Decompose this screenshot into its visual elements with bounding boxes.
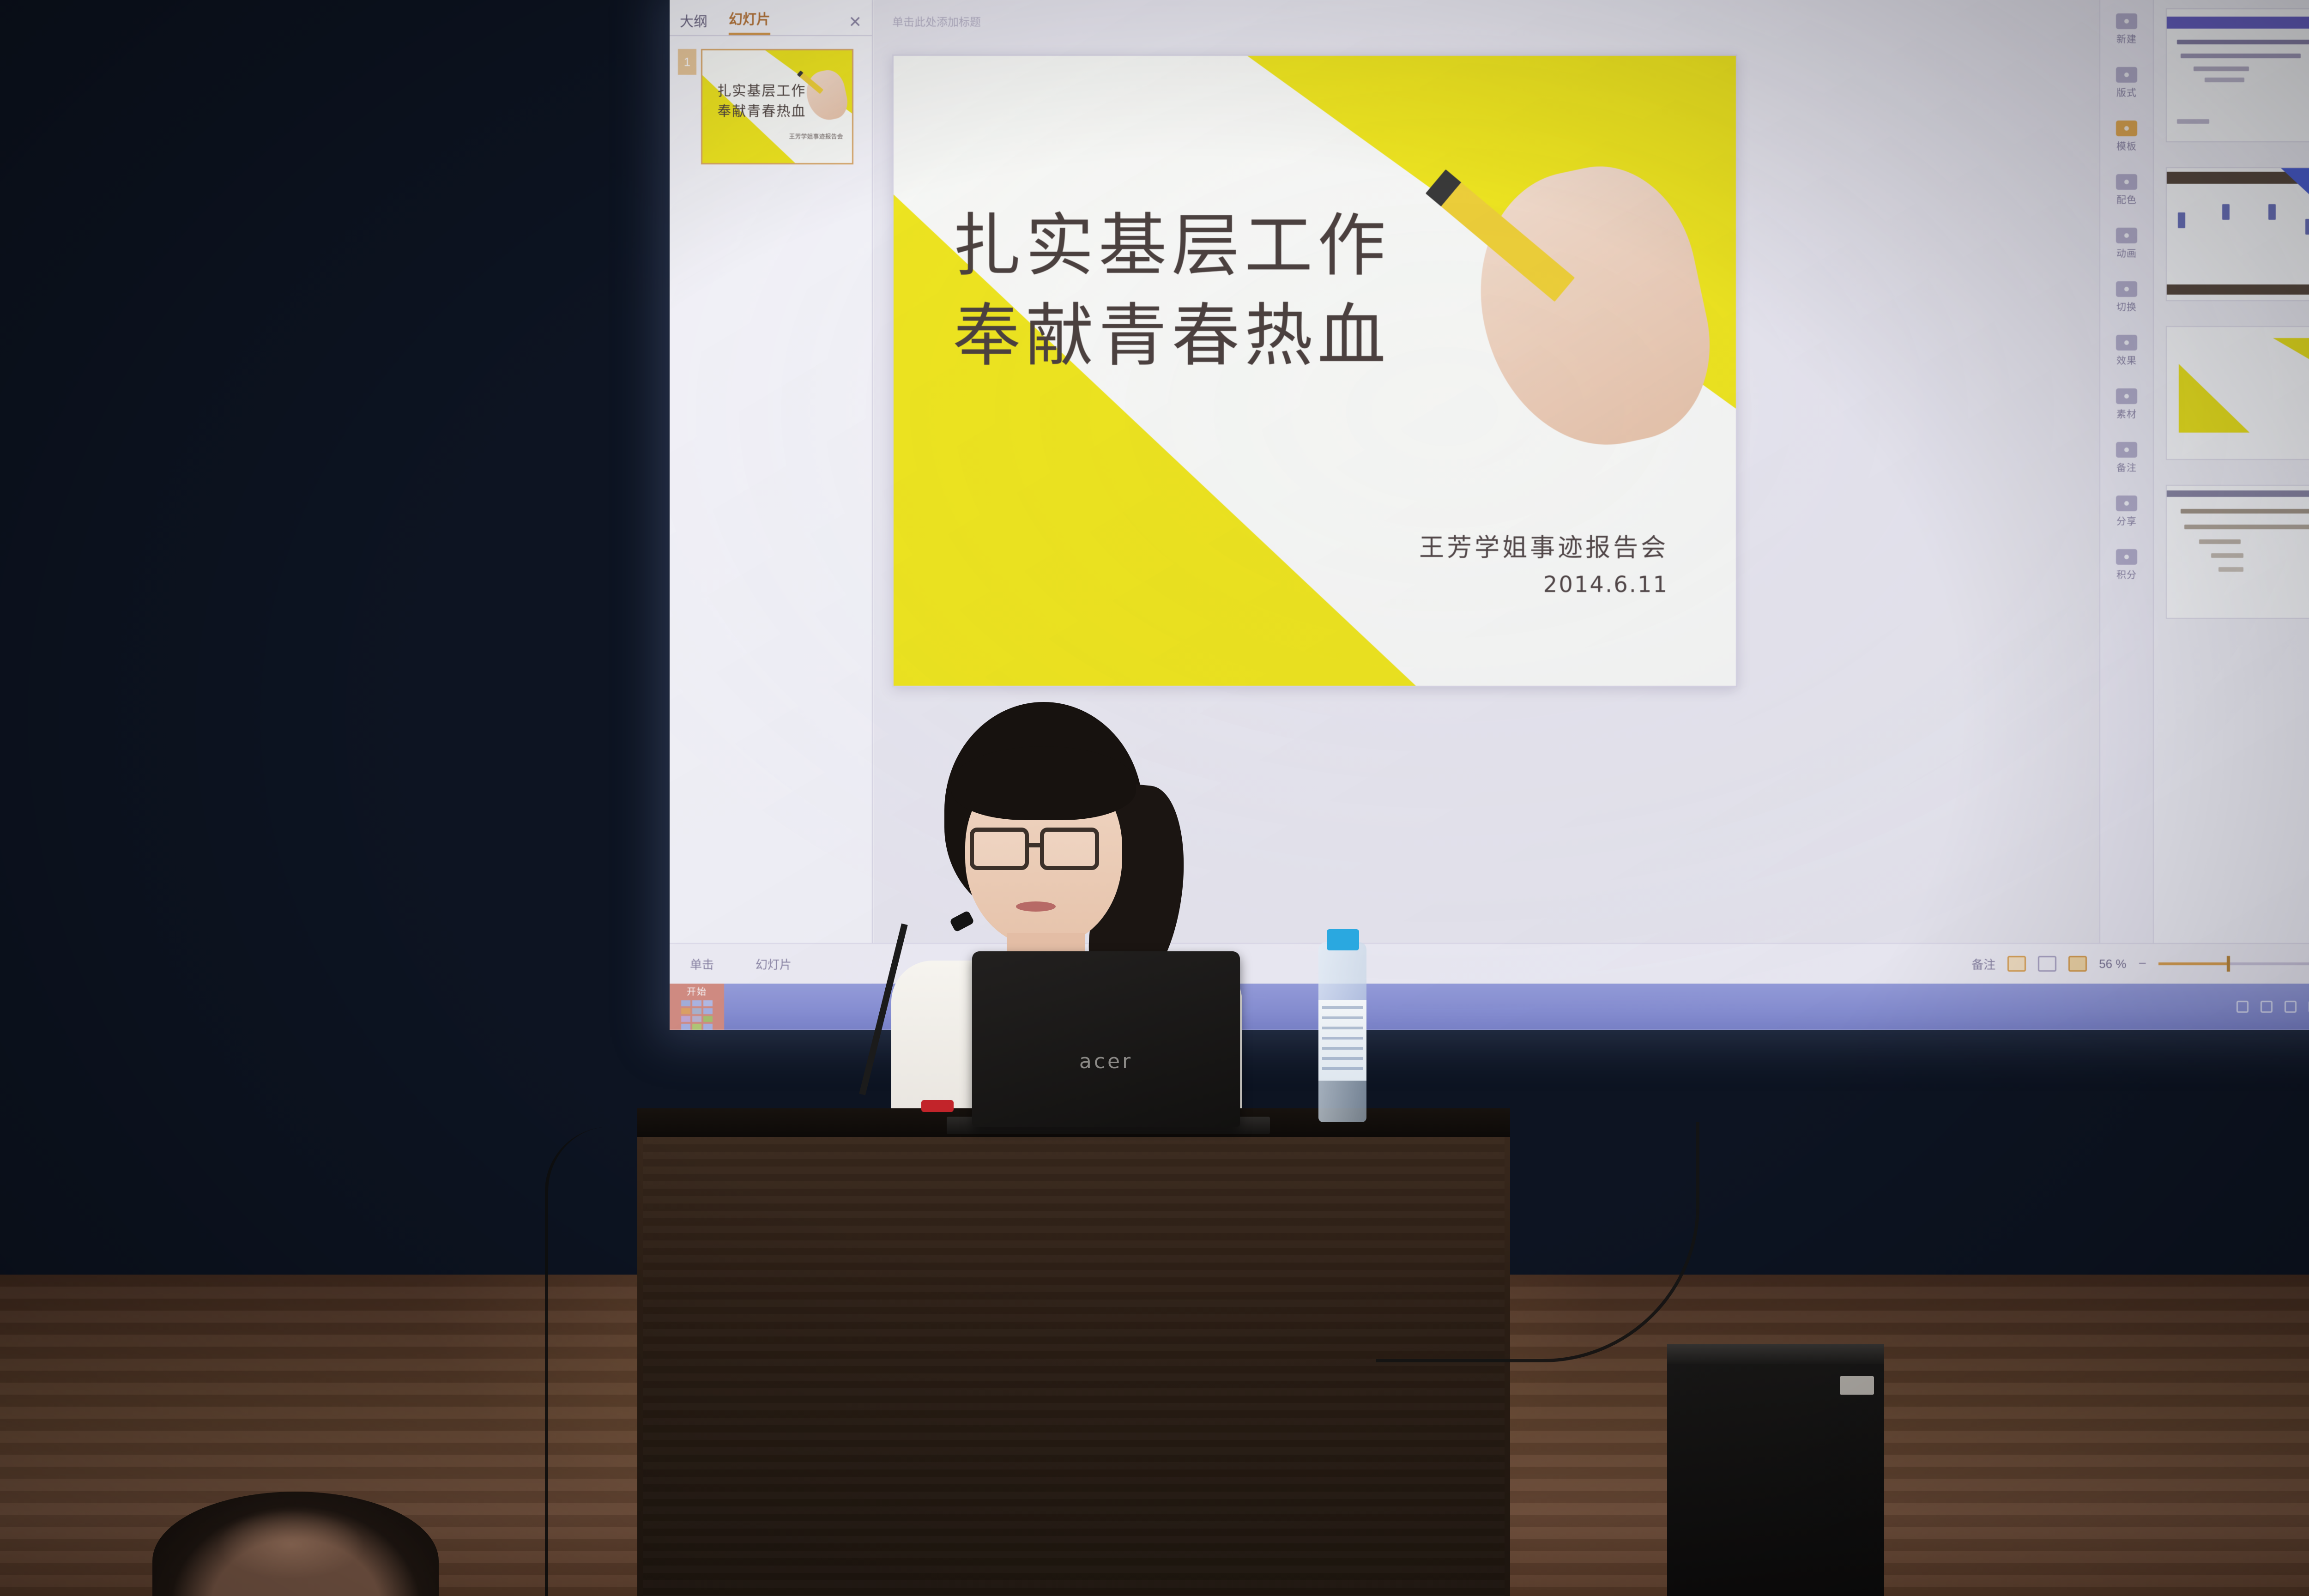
template-line xyxy=(2181,509,2309,514)
view-normal-icon[interactable] xyxy=(2007,956,2026,972)
mouth xyxy=(1016,901,1056,912)
rail-label: 分享 xyxy=(2116,514,2137,528)
zoom-slider[interactable] xyxy=(2158,962,2309,965)
mini-byline: 王芳学姐事迹报告会 xyxy=(789,132,843,140)
template-node xyxy=(2268,204,2276,220)
rail-item-animation[interactable]: 动画 xyxy=(2100,217,2153,271)
rail-item-new[interactable]: 新建 xyxy=(2100,3,2153,56)
mini-title-line2: 奉献青春热血 xyxy=(717,100,806,120)
view-slideshow-icon[interactable] xyxy=(2068,956,2087,972)
tab-outline[interactable]: 大纲 xyxy=(680,10,707,35)
effects-icon xyxy=(2116,335,2137,351)
start-button[interactable]: 开始 xyxy=(670,984,724,1030)
zoom-percent: 56 % xyxy=(2099,957,2126,971)
notes-toggle[interactable]: 备注 xyxy=(1971,955,1995,973)
template-line xyxy=(2177,119,2209,124)
bottle-cap xyxy=(1327,929,1359,950)
start-tiles-icon xyxy=(681,1000,713,1030)
status-right-group: 备注 56 % − xyxy=(1971,955,2309,973)
rail-label: 备注 xyxy=(2116,460,2137,474)
template-line xyxy=(2181,54,2301,58)
slide-byline-block[interactable]: 王芳学姐事迹报告会 2014.6.11 xyxy=(1419,527,1668,598)
red-device xyxy=(921,1100,954,1112)
template-gallery-pane[interactable]: 更多模板 xyxy=(2154,0,2309,984)
canvas-toolbar: 单击此处添加标题 xyxy=(874,0,2154,42)
template-line xyxy=(2199,539,2241,544)
close-icon[interactable]: ✕ xyxy=(849,13,862,35)
share-icon xyxy=(2116,496,2137,511)
eyeglasses-bridge xyxy=(1029,843,1042,847)
bangs xyxy=(951,746,1136,820)
slide-number: 1 xyxy=(678,49,696,75)
rail-label: 切换 xyxy=(2116,300,2137,314)
template-icon xyxy=(2116,121,2137,136)
network-icon[interactable] xyxy=(2236,1001,2249,1013)
slide-date: 2014.6.11 xyxy=(1419,572,1668,598)
layout-icon xyxy=(2116,67,2137,83)
template-line xyxy=(2205,78,2244,82)
yellow-triangle-bottomleft xyxy=(2179,364,2249,433)
view-sorter-icon[interactable] xyxy=(2038,956,2056,972)
rail-item-effects[interactable]: 效果 xyxy=(2100,324,2153,378)
template-card[interactable] xyxy=(2166,485,2309,619)
rail-label: 版式 xyxy=(2116,85,2137,99)
rail-item-template[interactable]: 模板 xyxy=(2100,110,2153,163)
rail-label: 配色 xyxy=(2116,193,2137,206)
battery-icon[interactable] xyxy=(2285,1001,2297,1013)
template-card[interactable] xyxy=(2166,167,2309,301)
yellow-triangle-topright xyxy=(2273,338,2309,391)
bottle-label xyxy=(1318,1000,1366,1081)
zoom-slider-handle[interactable] xyxy=(2227,956,2230,972)
canvas-hint-text: 单击此处添加标题 xyxy=(892,13,981,29)
system-tray: 10:32 2014/6/11 xyxy=(2236,993,2309,1021)
rail-label: 素材 xyxy=(2116,407,2137,421)
template-header-bar xyxy=(2167,17,2309,29)
slide-artwork-mini: 扎实基层工作 奉献青春热血 王芳学姐事迹报告会 xyxy=(702,50,852,163)
tool-rail: 新建 版式 模板 配色 动画 切换 xyxy=(2099,0,2154,984)
speaker-badge xyxy=(1840,1376,1874,1395)
start-label: 开始 xyxy=(687,984,707,997)
stage-monitor-speaker xyxy=(1667,1344,1884,1596)
volume-icon[interactable] xyxy=(2261,1001,2273,1013)
rail-label: 动画 xyxy=(2116,246,2137,260)
animation-icon xyxy=(2116,228,2137,243)
slide-title-line2: 奉献青春热血 xyxy=(953,291,1610,381)
slide-title[interactable]: 扎实基层工作 奉献青春热血 xyxy=(953,201,1610,381)
palette-icon xyxy=(2116,174,2137,190)
zoom-slider-fill xyxy=(2158,962,2228,965)
template-line xyxy=(2177,40,2309,44)
tab-slides[interactable]: 幻灯片 xyxy=(729,8,770,35)
new-slide-icon xyxy=(2116,13,2137,29)
slide-byline: 王芳学姐事迹报告会 xyxy=(1419,527,1668,563)
status-left-group: 单击 幻灯片 xyxy=(690,955,792,973)
template-footer-bar xyxy=(2167,284,2309,295)
laptop-lid: acer xyxy=(972,951,1240,1127)
rail-item-assets[interactable]: 素材 xyxy=(2100,378,2153,431)
template-node xyxy=(2178,212,2185,228)
template-node xyxy=(2305,219,2309,235)
slide-title-line1: 扎实基层工作 xyxy=(953,201,1610,291)
audience-head-highlight xyxy=(217,1510,365,1579)
template-line xyxy=(2194,66,2249,71)
rail-item-transition[interactable]: 切换 xyxy=(2100,271,2153,324)
status-slide-label: 幻灯片 xyxy=(756,955,792,973)
slide-thumbnail-list: 1 扎实基层工作 奉献青春热血 王芳学姐事迹报告会 xyxy=(670,36,872,177)
pane-tab-bar: 大纲 幻灯片 ✕ xyxy=(670,0,872,36)
rail-item-notes[interactable]: 备注 xyxy=(2100,431,2153,485)
active-slide[interactable]: 扎实基层工作 奉献青春热血 王芳学姐事迹报告会 2014.6.11 xyxy=(892,54,1737,687)
eyeglasses-left-lens xyxy=(970,828,1029,870)
rail-item-points[interactable]: 积分 xyxy=(2100,538,2153,592)
rail-item-share[interactable]: 分享 xyxy=(2100,485,2153,538)
assets-icon xyxy=(2116,388,2137,404)
eyeglasses-right-lens xyxy=(1040,828,1099,870)
rail-label: 模板 xyxy=(2116,139,2137,153)
rail-label: 效果 xyxy=(2116,353,2137,367)
auditorium-stage: 大纲 幻灯片 ✕ 1 扎实基层工作 奉献青春热血 xyxy=(0,0,2309,1596)
status-hint: 单击 xyxy=(690,955,714,973)
zoom-out-button[interactable]: − xyxy=(2138,956,2146,972)
notes-icon xyxy=(2116,442,2137,458)
rail-label: 积分 xyxy=(2116,568,2137,581)
template-header-bar xyxy=(2167,490,2309,497)
template-card[interactable] xyxy=(2166,326,2309,460)
points-icon xyxy=(2116,549,2137,565)
slide-thumbnail[interactable]: 扎实基层工作 奉献青春热血 王芳学姐事迹报告会 xyxy=(701,49,853,164)
rail-label: 新建 xyxy=(2116,32,2137,46)
transition-icon xyxy=(2116,281,2137,297)
template-node xyxy=(2222,204,2230,220)
laptop-brand-logo: acer xyxy=(1079,1050,1133,1073)
template-line xyxy=(2184,525,2309,529)
template-card[interactable] xyxy=(2166,8,2309,142)
template-line xyxy=(2218,567,2243,572)
mini-title-line1: 扎实基层工作 xyxy=(717,79,806,100)
floor-cable xyxy=(545,1127,665,1596)
rail-item-colors[interactable]: 配色 xyxy=(2100,163,2153,217)
slide-list-item[interactable]: 1 扎实基层工作 奉献青春热血 王芳学姐事迹报告会 xyxy=(678,49,864,164)
rail-item-layout[interactable]: 版式 xyxy=(2100,56,2153,110)
template-line xyxy=(2211,553,2243,558)
